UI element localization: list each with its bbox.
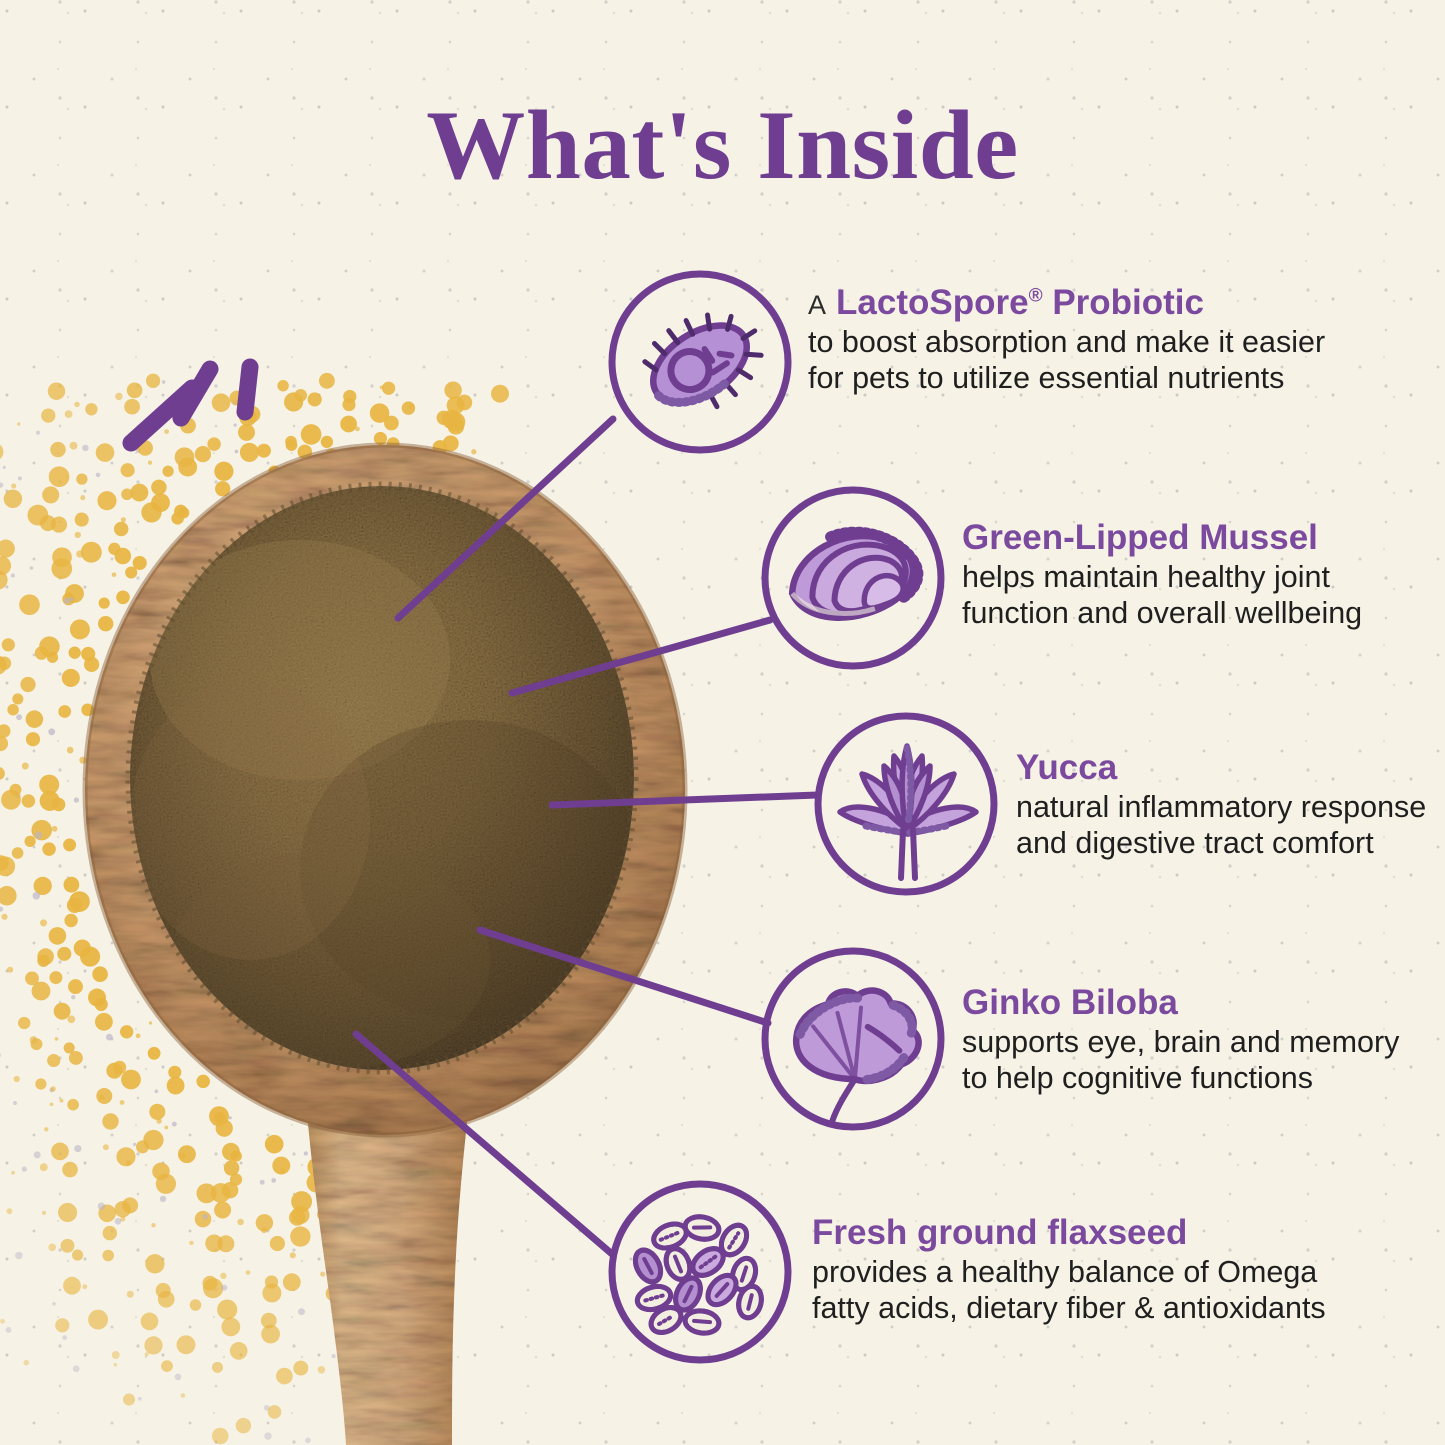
callout-flaxseed: Fresh ground flaxseed provides a healthy… xyxy=(812,1213,1326,1327)
callout-body-line2-ginko: to help cognitive functions xyxy=(962,1061,1399,1097)
leader-line-mussel xyxy=(512,620,770,693)
icon-circle-lactospore[interactable] xyxy=(604,266,796,458)
ginkgo-leaf-icon xyxy=(790,982,928,1124)
callout-lead-lactospore: A xyxy=(808,290,826,320)
callout-body-line2-mussel: function and overall wellbeing xyxy=(962,596,1362,632)
leader-line-lactospore xyxy=(398,419,613,618)
callout-body-line2-flaxseed: fatty acids, dietary fiber & antioxidant… xyxy=(812,1291,1326,1327)
callout-heading-tail-lactospore: Probiotic xyxy=(1043,283,1204,322)
callout-lactospore: A LactoSpore® Probiotic to boost absorpt… xyxy=(808,283,1325,397)
probiotic-bacterium-icon xyxy=(632,291,778,430)
callout-heading-ginko: Ginko Biloba xyxy=(962,983,1399,1022)
page-title: What's Inside xyxy=(0,96,1445,195)
callout-body-line2-yucca: and digestive tract comfort xyxy=(1016,826,1426,862)
callout-heading-flaxseed: Fresh ground flaxseed xyxy=(812,1213,1326,1252)
callout-body-line2-lactospore: for pets to utilize essential nutrients xyxy=(808,361,1325,397)
leader-line-yucca xyxy=(552,795,817,805)
callout-body-line1-yucca: natural inflammatory response xyxy=(1016,790,1426,826)
callout-body-line1-ginko: supports eye, brain and memory xyxy=(962,1025,1399,1061)
leader-line-ginko xyxy=(480,930,768,1023)
callout-ginko: Ginko Biloba supports eye, brain and mem… xyxy=(962,983,1399,1097)
callout-body-line1-mussel: helps maintain healthy joint xyxy=(962,560,1362,596)
callout-body-line1-flaxseed: provides a healthy balance of Omega xyxy=(812,1255,1326,1291)
callout-mussel: Green-Lipped Mussel helps maintain healt… xyxy=(962,518,1362,632)
yucca-plant-icon xyxy=(840,746,976,878)
callout-heading-mussel: Green-Lipped Mussel xyxy=(962,518,1362,557)
leader-line-flaxseed xyxy=(356,1034,612,1254)
infographic-canvas: What's Inside xyxy=(0,0,1445,1445)
callout-heading-main-lactospore: LactoSpore xyxy=(836,283,1029,322)
callout-heading-lactospore: A LactoSpore® Probiotic xyxy=(808,283,1325,322)
icon-circle-mussel[interactable] xyxy=(757,482,949,674)
icon-circle-yucca[interactable] xyxy=(810,708,1002,900)
mussel-shell-icon xyxy=(779,514,925,633)
icon-circle-flaxseed[interactable] xyxy=(604,1176,796,1368)
registered-mark: ® xyxy=(1029,285,1043,306)
icon-circle-ginko[interactable] xyxy=(757,943,949,1135)
callout-body-line1-lactospore: to boost absorption and make it easier xyxy=(808,325,1325,361)
flaxseed-cluster-icon xyxy=(630,1214,764,1337)
callout-heading-yucca: Yucca xyxy=(1016,748,1426,787)
callout-yucca: Yucca natural inflammatory response and … xyxy=(1016,748,1426,862)
